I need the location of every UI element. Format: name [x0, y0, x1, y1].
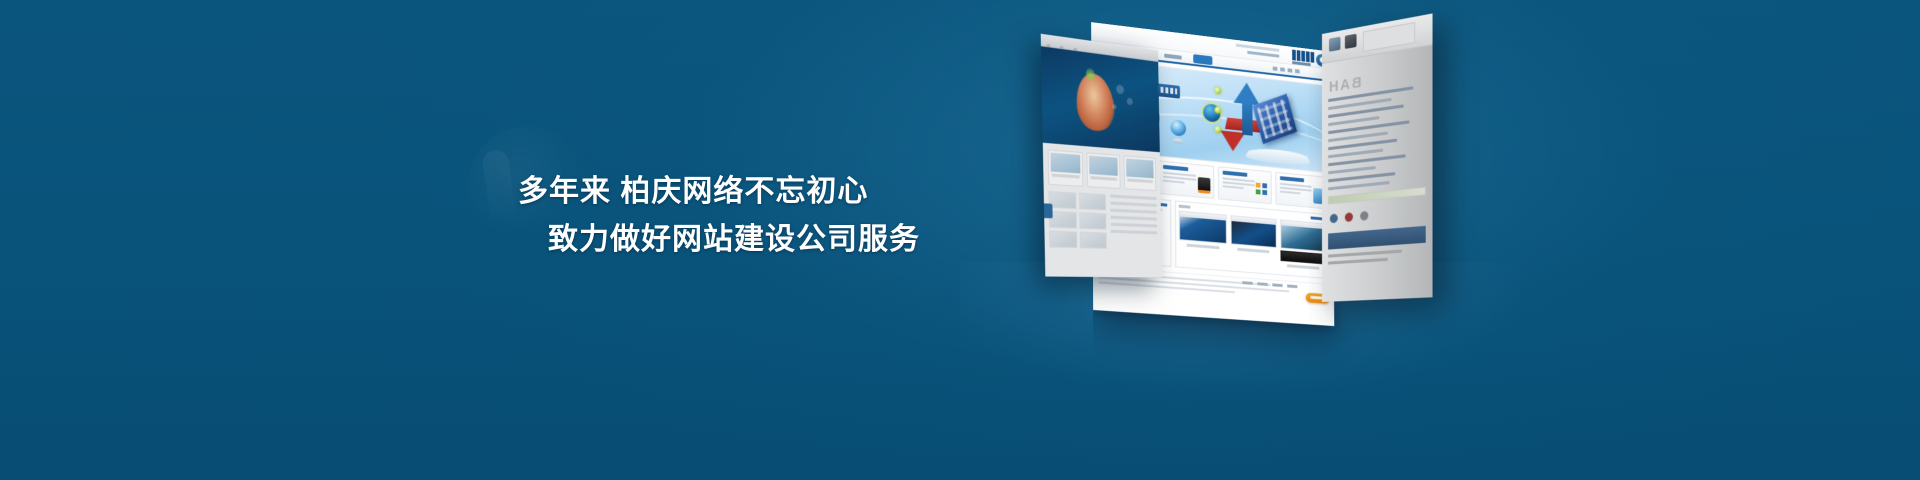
right-site-link-column	[1322, 45, 1433, 191]
hero-dot-column	[1214, 87, 1221, 134]
camera-icon	[1345, 34, 1357, 49]
footer-link[interactable]	[1257, 282, 1267, 286]
nav-link[interactable]	[1280, 67, 1285, 71]
headline-line-1: 多年来 柏庆网络不忘初心	[518, 166, 868, 210]
bubble-icon	[1116, 84, 1124, 94]
nav-link[interactable]	[1288, 68, 1293, 72]
thumbnail[interactable]	[1049, 211, 1077, 229]
list-item[interactable]	[1111, 202, 1157, 207]
hand-illustration	[1073, 74, 1117, 132]
case-thumbnail-caption	[1237, 248, 1269, 254]
sprout-icon	[1085, 67, 1094, 80]
hero-dot-icon	[1215, 106, 1222, 114]
hero-blue-arrow-head	[1233, 81, 1260, 105]
hero-orb-stand	[1174, 138, 1183, 144]
case-panel-header	[1179, 205, 1325, 221]
left-site-card[interactable]	[1086, 152, 1120, 189]
left-website-screenshot[interactable]	[1041, 34, 1162, 278]
list-item[interactable]	[1111, 195, 1157, 200]
list-item	[1328, 258, 1387, 265]
thumbnail[interactable]	[1048, 191, 1076, 209]
case-thumbnail-image-dark	[1280, 250, 1325, 264]
nav-item-active[interactable]	[1193, 54, 1212, 65]
hero-pedestal	[1243, 146, 1312, 166]
list-item[interactable]	[1328, 181, 1389, 190]
case-thumbnail-image	[1230, 215, 1276, 248]
thumbnail[interactable]	[1049, 231, 1077, 248]
bubble-icon	[1126, 98, 1132, 106]
list-item[interactable]	[1328, 166, 1376, 174]
case-thumbnail-caption	[1187, 244, 1220, 250]
headline-block: 多年来 柏庆网络不忘初心 致力做好网站建设公司服务	[0, 0, 900, 480]
logo-wordmark	[1292, 50, 1314, 63]
case-thumbnail-caption	[1287, 264, 1319, 269]
showcase-screens: BAH	[1000, 0, 1470, 376]
feature-card-title	[1222, 171, 1247, 177]
case-thumbnail-row	[1179, 211, 1326, 271]
footer-link[interactable]	[1272, 283, 1282, 287]
left-site-link-list	[1111, 195, 1158, 253]
list-item[interactable]	[1111, 230, 1157, 235]
hero-red-arrow-body	[1225, 118, 1265, 133]
case-thumbnail-image	[1280, 219, 1325, 252]
nav-secondary	[1273, 66, 1300, 73]
footer-link[interactable]	[1287, 285, 1297, 289]
footer-link-row	[1242, 281, 1297, 288]
nav-link[interactable]	[1295, 69, 1300, 73]
hero-blue-arrow-body	[1242, 102, 1253, 136]
headline-line-2: 致力做好网站建设公司服务	[548, 214, 920, 258]
right-site-social-icons	[1322, 201, 1433, 228]
case-study-panel	[1175, 200, 1329, 279]
case-thumbnail[interactable]	[1280, 219, 1326, 270]
right-site-logo	[1363, 22, 1415, 52]
left-site-thumbnails	[1048, 191, 1107, 252]
list-item[interactable]	[1111, 223, 1157, 228]
left-site-footer	[1045, 277, 1162, 278]
app-icon	[1329, 37, 1340, 52]
thumbnail[interactable]	[1079, 193, 1106, 211]
left-site-hero	[1041, 46, 1160, 152]
case-thumbnail-image	[1179, 211, 1226, 244]
case-thumbnail[interactable]	[1230, 215, 1276, 254]
case-thumbnail[interactable]	[1179, 211, 1226, 250]
social-icon-blue[interactable]	[1330, 214, 1338, 224]
list-item[interactable]	[1111, 216, 1157, 221]
feature-card-title	[1280, 176, 1304, 182]
thumbnail[interactable]	[1080, 232, 1107, 249]
hero-orb-blue	[1170, 119, 1186, 136]
side-tab-icon[interactable]	[1041, 203, 1053, 218]
list-item[interactable]	[1111, 209, 1157, 214]
feature-card[interactable]	[1158, 160, 1214, 199]
social-icon-gray[interactable]	[1360, 211, 1368, 221]
site-slogan-line	[1247, 51, 1279, 58]
nav-link[interactable]	[1273, 66, 1278, 70]
hero-red-arrow-head	[1220, 130, 1245, 152]
footer-text-line	[1099, 276, 1289, 292]
left-site-lower	[1048, 191, 1157, 253]
hero-blue-cube	[1252, 94, 1297, 144]
feature-card[interactable]	[1217, 166, 1272, 204]
footer-link[interactable]	[1242, 281, 1252, 285]
logo-subtext	[1292, 61, 1310, 66]
phone-icon	[1197, 177, 1210, 194]
left-site-card-row	[1048, 149, 1157, 191]
footer-text-line	[1099, 281, 1235, 293]
site-slogan-line	[1236, 44, 1279, 52]
list-item	[1328, 250, 1401, 258]
feature-card-title	[1163, 165, 1188, 171]
hero-globe-icon	[1203, 103, 1220, 122]
hero-dot-icon	[1215, 126, 1222, 134]
feature-card[interactable]	[1276, 172, 1329, 210]
bubble-icon	[1112, 104, 1116, 109]
right-site-progress-bar	[1328, 187, 1426, 205]
left-site-card[interactable]	[1123, 155, 1156, 191]
grid-icon	[1256, 183, 1268, 200]
social-icon-red[interactable]	[1345, 212, 1353, 222]
right-website-screenshot[interactable]: BAH	[1322, 13, 1433, 302]
hero-banner: 多年来 柏庆网络不忘初心 致力做好网站建设公司服务	[0, 0, 1920, 480]
nav-item[interactable]	[1164, 53, 1181, 59]
left-site-body	[1043, 143, 1162, 278]
case-panel-title	[1179, 205, 1191, 209]
left-site-card[interactable]	[1048, 149, 1084, 187]
hero-dot-icon	[1214, 87, 1221, 95]
thumbnail[interactable]	[1080, 212, 1107, 229]
